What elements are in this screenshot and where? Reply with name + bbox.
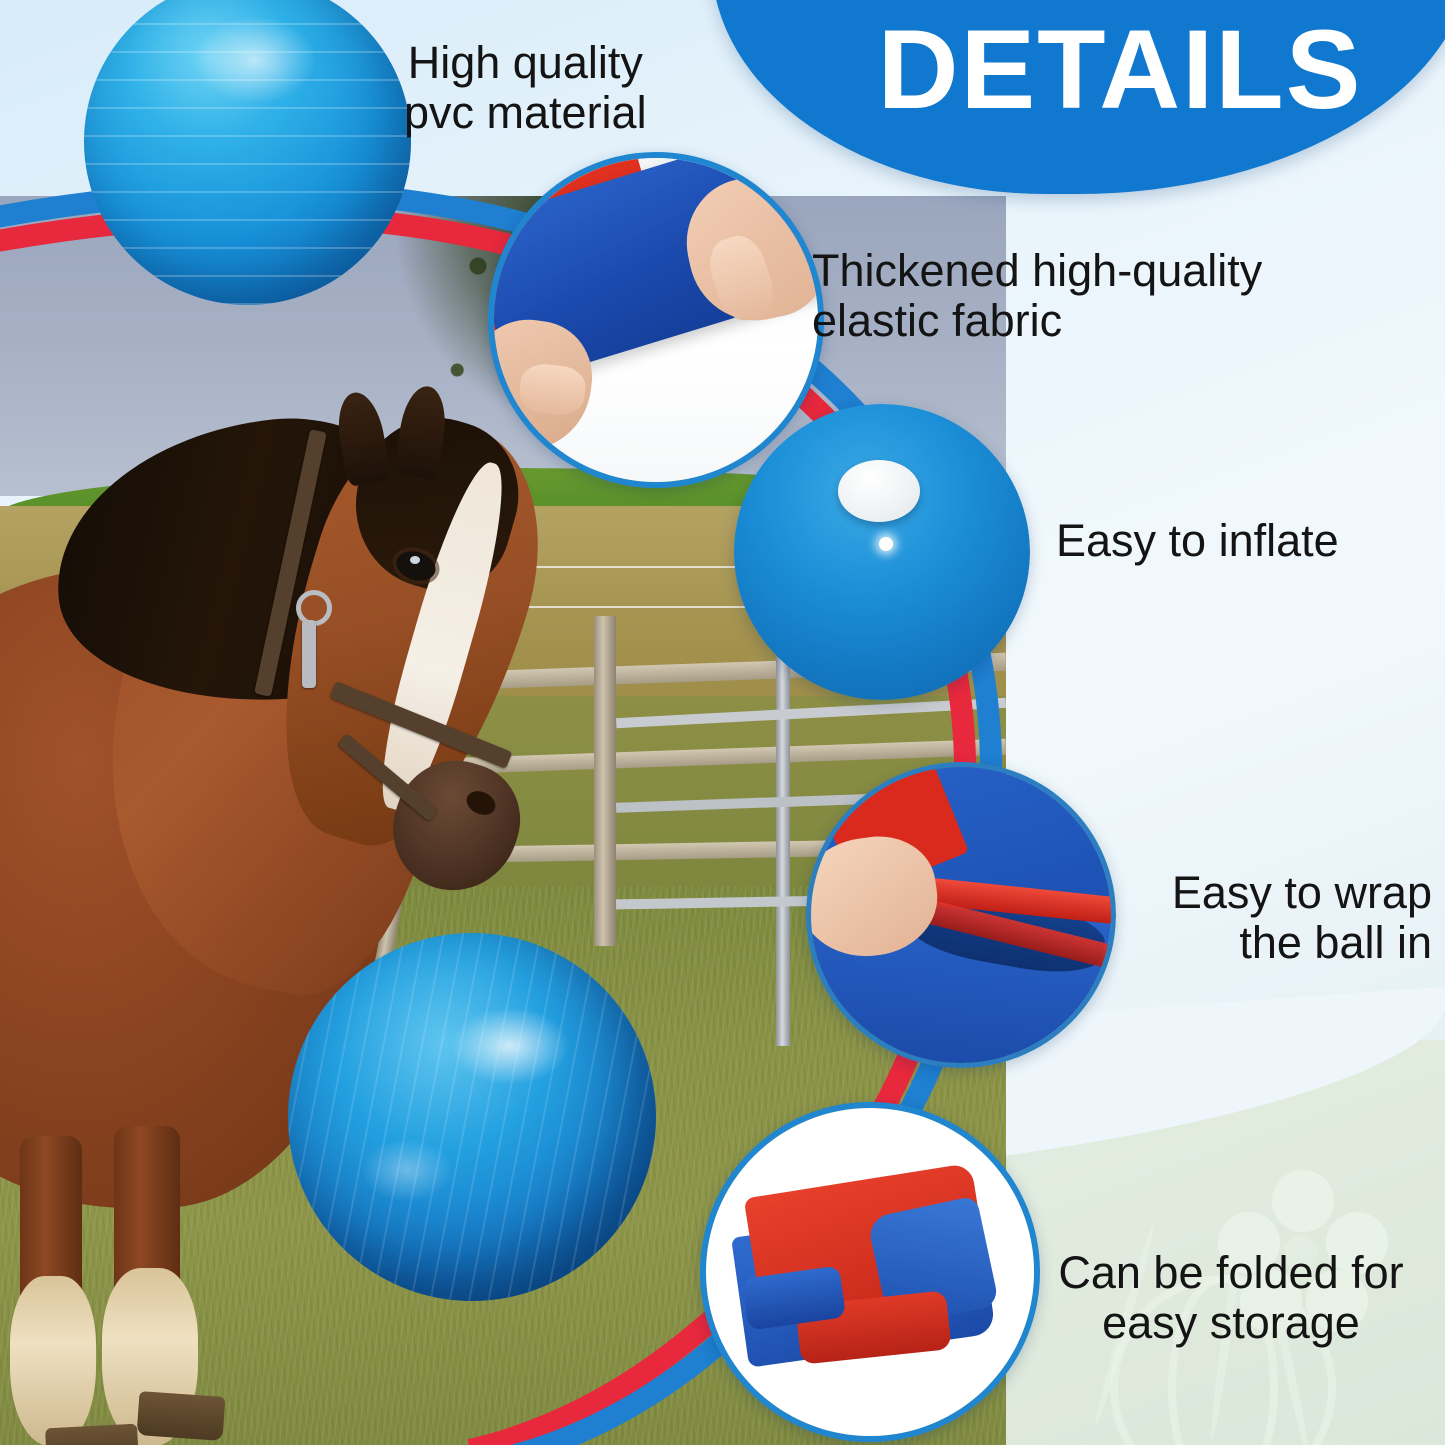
ball-surface [734, 404, 1030, 700]
ball-ribs [288, 933, 656, 1301]
inflation-valve-inset [734, 404, 1030, 700]
page-title: DETAILS [800, 14, 1440, 126]
folded-storage-inset [700, 1102, 1040, 1442]
feature-label-elastic-fabric: Thickened high-quality elastic fabric [812, 246, 1262, 347]
horse-hoof [137, 1391, 226, 1441]
inset-clip [806, 762, 1116, 1068]
fence-post [594, 616, 616, 946]
ball-secondary-highlight [362, 1139, 452, 1201]
feature-label-pvc-material: High quality pvc material [404, 38, 647, 139]
horse-eye-glint [410, 556, 420, 564]
feature-label-wrap-ball: Easy to wrap the ball in [1136, 868, 1432, 969]
blue-exercise-ball-photo [288, 933, 656, 1301]
ball-highlight [450, 1007, 570, 1085]
halter-clip [302, 620, 316, 688]
horse-feathering [10, 1276, 96, 1445]
feature-label-folded-storage: Can be folded for easy storage [1026, 1248, 1436, 1349]
elastic-fabric-inset [488, 152, 824, 488]
pvc-ball-highlight [195, 17, 315, 103]
horse-hoof [45, 1424, 139, 1445]
feature-label-inflate: Easy to inflate [1056, 516, 1339, 566]
product-detail-infographic: DETAILS [0, 0, 1445, 1445]
zipper-wrap-inset [806, 762, 1116, 1068]
